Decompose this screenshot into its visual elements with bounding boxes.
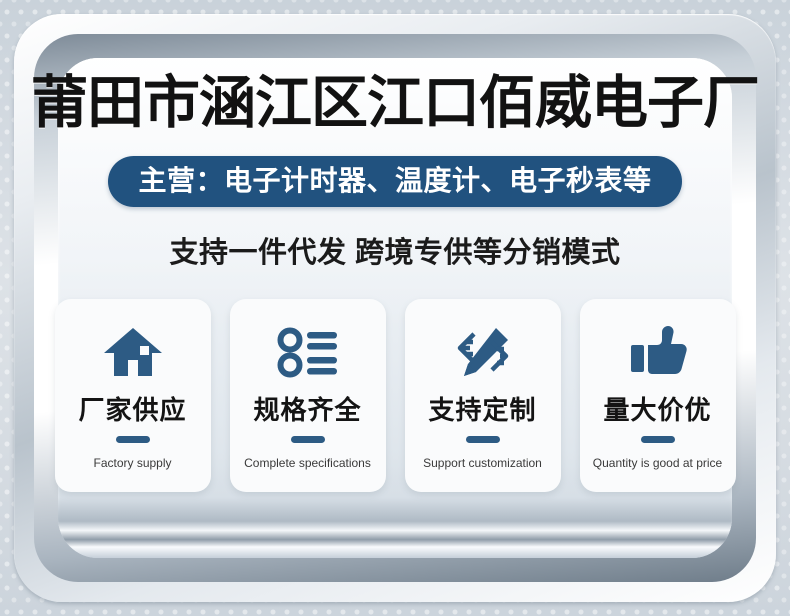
distribution-model-text: 支持一件代发 跨境专供等分销模式 bbox=[169, 229, 620, 271]
feature-card-list: 厂家供应 Factory supply 规格齐全 bbox=[55, 299, 736, 492]
feature-card[interactable]: 厂家供应 Factory supply bbox=[55, 299, 211, 492]
feature-divider-dash bbox=[466, 436, 500, 443]
feature-divider-dash bbox=[641, 436, 675, 443]
bullet-list-icon bbox=[277, 321, 339, 383]
feature-divider-dash bbox=[291, 436, 325, 443]
feature-subtitle: Factory supply bbox=[93, 456, 171, 470]
feature-card[interactable]: 支持定制 Support customization bbox=[405, 299, 561, 492]
main-products-badge: 主营：电子计时器、温度计、电子秒表等 bbox=[108, 156, 681, 208]
company-name-heading: 莆田市涵江区江口佰威电子厂 bbox=[31, 74, 759, 134]
feature-title: 厂家供应 bbox=[78, 397, 186, 423]
feature-subtitle: Support customization bbox=[423, 456, 542, 470]
feature-subtitle: Complete specifications bbox=[244, 456, 371, 470]
promo-banner: 莆田市涵江区江口佰威电子厂 主营：电子计时器、温度计、电子秒表等 支持一件代发 … bbox=[0, 0, 790, 616]
feature-title: 规格齐全 bbox=[253, 397, 361, 423]
thumbs-up-icon bbox=[627, 321, 689, 383]
feature-card[interactable]: 规格齐全 Complete specifications bbox=[230, 299, 386, 492]
banner-content: 莆田市涵江区江口佰威电子厂 主营：电子计时器、温度计、电子秒表等 支持一件代发 … bbox=[38, 38, 752, 578]
feature-subtitle: Quantity is good at price bbox=[593, 456, 722, 470]
feature-title: 量大价优 bbox=[603, 397, 711, 423]
pencil-ruler-icon bbox=[452, 321, 514, 383]
house-icon bbox=[102, 321, 164, 383]
feature-divider-dash bbox=[116, 436, 150, 443]
feature-card[interactable]: 量大价优 Quantity is good at price bbox=[580, 299, 736, 492]
feature-title: 支持定制 bbox=[428, 397, 536, 423]
